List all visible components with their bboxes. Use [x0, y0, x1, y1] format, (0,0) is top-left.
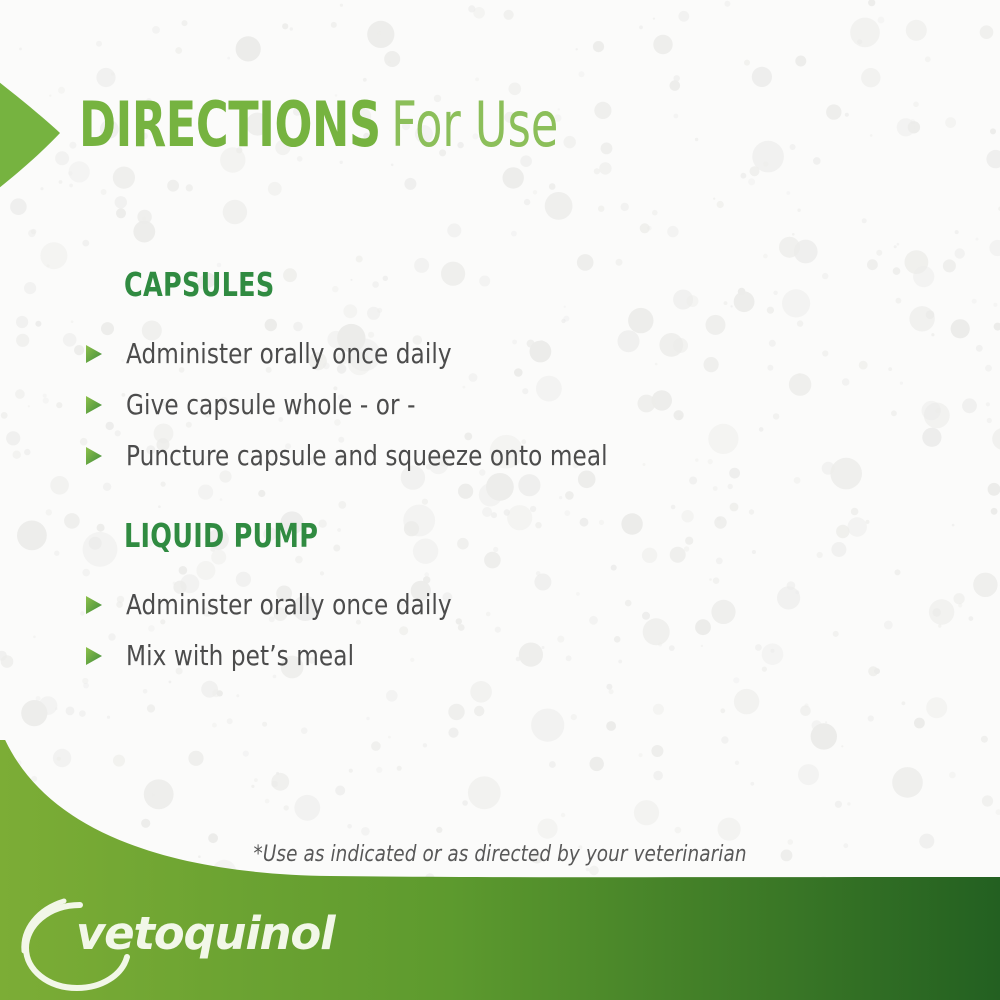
triangle-right-icon: [86, 596, 102, 614]
triangle-right-icon: [86, 647, 102, 665]
list-item-label: Mix with pet’s meal: [126, 639, 354, 672]
section-capsules: CAPSULES Administer orally once daily: [0, 265, 1000, 481]
page-title-light: For Use: [380, 88, 558, 161]
section-heading-capsules: CAPSULES: [124, 265, 275, 304]
arrow-right-icon: [0, 70, 80, 200]
list-item-label: Administer orally once daily: [126, 588, 452, 621]
directions-for-use-panel: DIRECTIONS For Use CAPSULES: [0, 0, 1000, 1000]
section-liquid-pump: LIQUID PUMP Administer orally once daily…: [0, 516, 1000, 681]
list-item: Give capsule whole - or -: [86, 379, 1000, 430]
triangle-right-icon: [86, 345, 102, 363]
vetoquinol-logo: vetoquinol: [18, 893, 288, 993]
triangle-right-icon: [86, 396, 102, 414]
list-item: Administer orally once daily: [86, 328, 1000, 379]
page-title-bold: DIRECTIONS: [79, 88, 381, 161]
list-item-label: Give capsule whole - or -: [126, 388, 416, 421]
bullet-list-capsules: Administer orally once daily Give capsul…: [0, 328, 1000, 481]
list-item: Mix with pet’s meal: [86, 630, 1000, 681]
page-title: DIRECTIONS For Use: [79, 88, 603, 161]
section-heading-liquid-pump: LIQUID PUMP: [124, 516, 318, 555]
list-item: Puncture capsule and squeeze onto meal: [86, 430, 1000, 481]
triangle-right-icon: [86, 447, 102, 465]
bullet-list-liquid-pump: Administer orally once daily Mix with pe…: [0, 579, 1000, 681]
list-item-label: Administer orally once daily: [126, 337, 452, 370]
logo-wordmark: vetoquinol: [76, 907, 334, 960]
list-item-label: Puncture capsule and squeeze onto meal: [126, 439, 608, 472]
list-item: Administer orally once daily: [86, 579, 1000, 630]
